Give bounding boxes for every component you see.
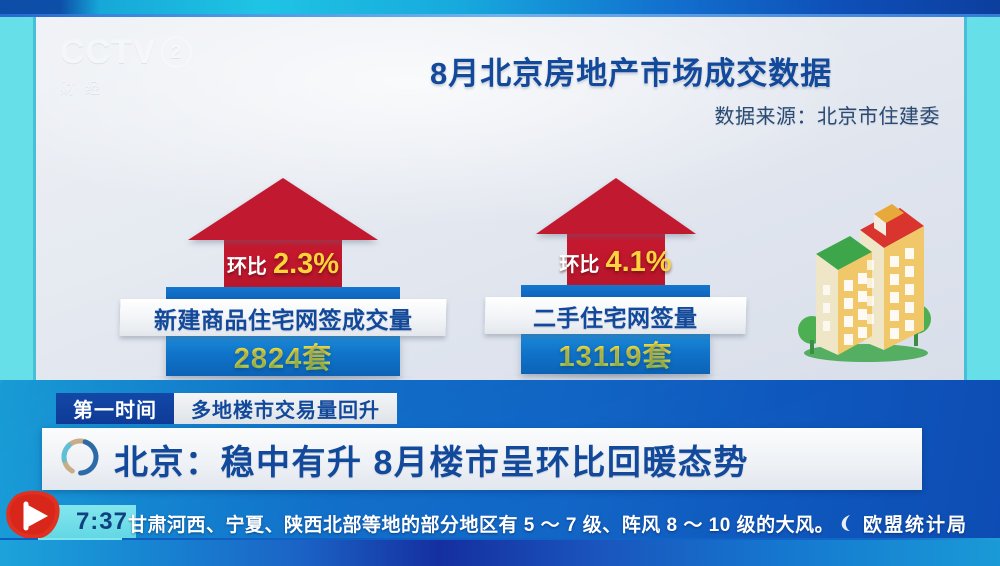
cctv-watermark-logo: CCTV 2 财经 [60,33,192,99]
news-ticker-text: 甘肃河西、宁夏、陕西北部等地的部分地区有 5 ～ 7 级、阵风 8 ～ 10 级… [128,505,828,541]
broadcast-screen: CCTV 2 财经 8月北京房地产市场成交数据 数据来源：北京市住建委 环比2.… [0,0,1000,566]
ticker-right-section: 欧盟统计局 [839,505,968,541]
stat-value-label: 2824套 [234,335,333,377]
stat-value-label: 13119套 [558,333,672,375]
change-prefix-label: 环比 [227,256,267,278]
left-cyan-rail [0,17,36,380]
stat-top-bar [521,285,710,297]
stat-name-card: 二手住宅网签量 [485,297,747,334]
bottom-decorative-strip [0,540,1000,566]
ticker-right-label: 欧盟统计局 [863,510,968,537]
change-value: 2.3% [273,248,339,280]
headline-text: 北京：稳中有升 8月楼市呈环比回暖态势 [114,435,749,484]
up-arrow-icon: 环比4.1% [483,178,748,285]
stat-top-bar [166,287,400,299]
change-value: 4.1% [605,246,671,278]
arrow-head [536,178,696,234]
gauge-ring-icon [58,435,102,484]
play-button-logo [2,487,64,545]
crescent-moon-icon [839,514,853,532]
stat-name-label: 新建商品住宅网签成交量 [154,301,413,335]
stat-group-new-homes: 环比2.3% 新建商品住宅网签成交量 2824套 [118,178,448,384]
topic-badge: 多地楼市交易量回升 [174,393,397,424]
cctv-channel-number: 2 [161,36,192,68]
cctv-logo-subtitle: 财经 [60,77,192,98]
up-arrow-icon: 环比2.3% [118,178,448,287]
stat-group-second-hand: 环比4.1% 二手住宅网签量 13119套 [483,178,748,382]
kicker-bar: 第一时间 多地楼市交易量回升 [56,393,397,424]
change-rate: 环比2.3% [118,248,448,281]
right-rail-edge [964,17,967,380]
cctv-logo-text: CCTV [60,33,157,71]
stat-value-bar: 2824套 [166,336,400,376]
change-prefix-label: 环比 [559,254,599,276]
infographic-title: 8月北京房地产市场成交数据 [430,48,940,93]
program-name-badge: 第一时间 [56,393,174,424]
stat-name-card: 新建商品住宅网签成交量 [120,299,447,336]
right-cyan-rail [964,17,1000,380]
infographic-source: 数据来源：北京市住建委 [430,100,940,129]
headline-bar: 北京：稳中有升 8月楼市呈环比回暖态势 [42,428,922,490]
buildings-illustration [788,190,938,365]
stat-name-label: 二手住宅网签量 [533,299,698,333]
buildings-icon [788,190,938,365]
stat-value-bar: 13119套 [521,334,710,374]
change-rate: 环比4.1% [483,246,748,279]
cctv-logo-main: CCTV 2 [60,33,192,71]
arrow-head [188,178,378,240]
